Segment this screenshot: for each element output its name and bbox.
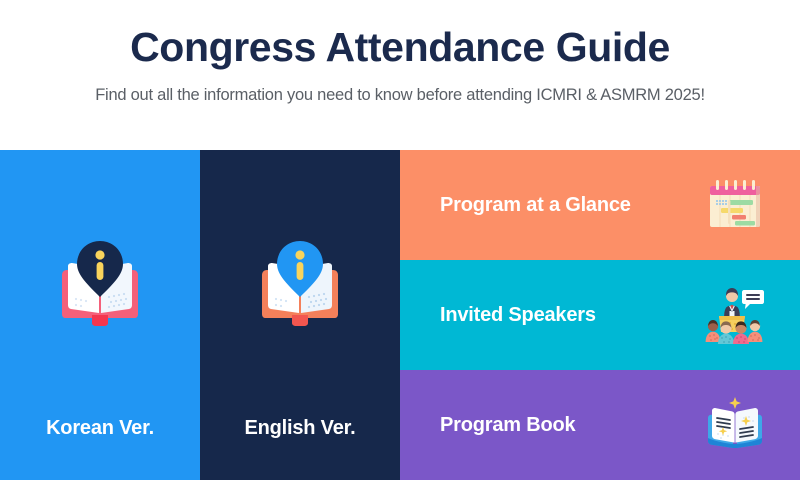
open-book-sparkle-icon (704, 394, 766, 456)
page-root: Congress Attendance Guide Find out all t… (0, 0, 800, 480)
panel-grid: Korean Ver. (0, 150, 800, 480)
page-title: Congress Attendance Guide (130, 26, 670, 69)
page-subtitle: Find out all the information you need to… (95, 86, 705, 105)
card-program-at-a-glance[interactable]: Program at a Glance (400, 150, 800, 260)
panel-label-korean: Korean Ver. (0, 417, 200, 440)
card-label-program-book: Program Book (440, 414, 575, 437)
panel-english-version[interactable]: English Ver. (200, 150, 400, 480)
card-program-book[interactable]: Program Book (400, 370, 800, 480)
book-info-pin-icon (52, 235, 148, 331)
speaker-podium-audience-icon (704, 284, 766, 346)
panel-label-english: English Ver. (200, 417, 400, 440)
card-invited-speakers[interactable]: Invited Speakers (400, 260, 800, 370)
page-header: Congress Attendance Guide Find out all t… (0, 0, 800, 150)
card-label-invited-speakers: Invited Speakers (440, 304, 596, 327)
calendar-schedule-icon (704, 174, 766, 236)
panel-korean-version[interactable]: Korean Ver. (0, 150, 200, 480)
card-label-program-at-a-glance: Program at a Glance (440, 194, 631, 217)
book-info-pin-icon (252, 235, 348, 331)
